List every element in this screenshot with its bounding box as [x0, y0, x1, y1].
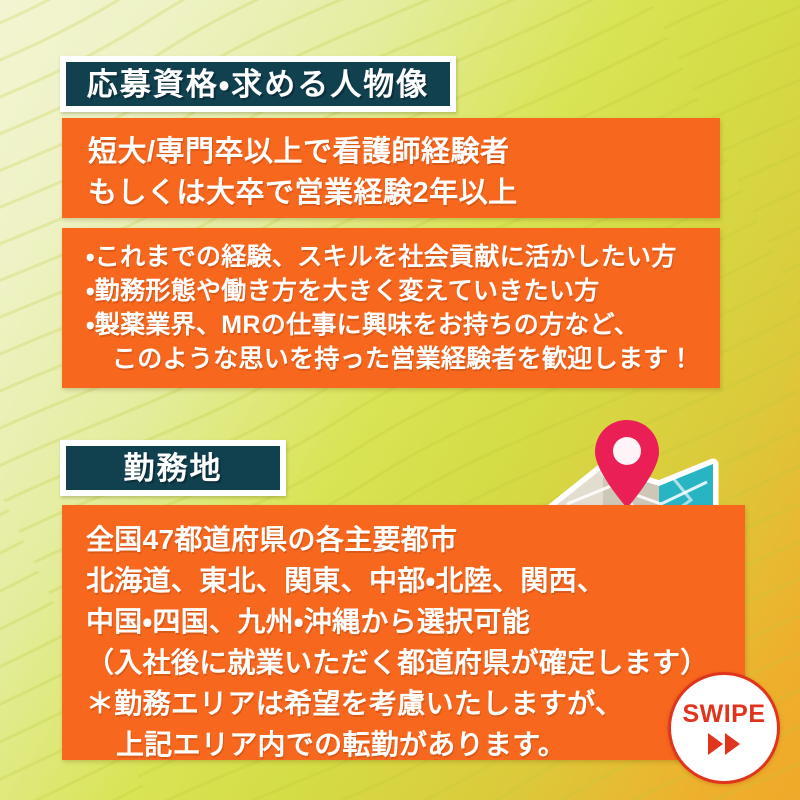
bullet-item-continuation: このような思いを持った営業経験者を歓迎します！ [86, 342, 720, 376]
bullet-block: ・これまでの経験、スキルを社会貢献に活かしたい方 ・勤務形態や働き方を大きく変え… [62, 228, 720, 388]
swipe-button[interactable]: SWIPE [668, 672, 780, 784]
qualification-block: 短大/専門卒以上で看護師経験者 もしくは大卒で営業経験2年以上 [62, 118, 720, 218]
section2-heading-box: 勤務地 [64, 444, 282, 492]
bullet-item: ・勤務形態や働き方を大きく変えていきたい方 [86, 274, 720, 308]
bullet-item: ・製薬業界、MRの仕事に興味をお持ちの方など、 [86, 308, 720, 342]
location-block: 全国47都道府県の各主要都市 北海道、東北、関東、中部・北陸、関西、 中国・四国… [62, 505, 745, 760]
location-note-continuation: 上記エリア内での転勤があります。 [86, 724, 745, 765]
fast-forward-icon [708, 733, 740, 755]
location-line: 中国・四国、九州・沖縄から選択可能 [86, 601, 745, 642]
triangle-arrow-1 [708, 733, 723, 755]
qualification-line-2: もしくは大卒で営業経験2年以上 [88, 173, 720, 214]
slide-canvas: 応募資格・求める人物像 短大/専門卒以上で看護師経験者 もしくは大卒で営業経験2… [0, 0, 800, 800]
location-line: 北海道、東北、関東、中部・北陸、関西、 [86, 560, 745, 601]
location-line: （入社後に就業いただく都道府県が確定します） [86, 642, 745, 683]
location-note: ＊勤務エリアは希望を考慮いたしますが、 [86, 683, 745, 724]
swipe-label: SWIPE [682, 702, 765, 727]
triangle-arrow-2 [725, 733, 740, 755]
bullet-item: ・これまでの経験、スキルを社会貢献に活かしたい方 [86, 240, 720, 274]
section1-heading-text: 応募資格・求める人物像 [87, 69, 430, 100]
section2-heading-text: 勤務地 [124, 453, 223, 484]
qualification-line-1: 短大/専門卒以上で看護師経験者 [88, 132, 720, 173]
section1-heading-box: 応募資格・求める人物像 [64, 60, 452, 108]
location-line: 全国47都道府県の各主要都市 [86, 519, 745, 560]
